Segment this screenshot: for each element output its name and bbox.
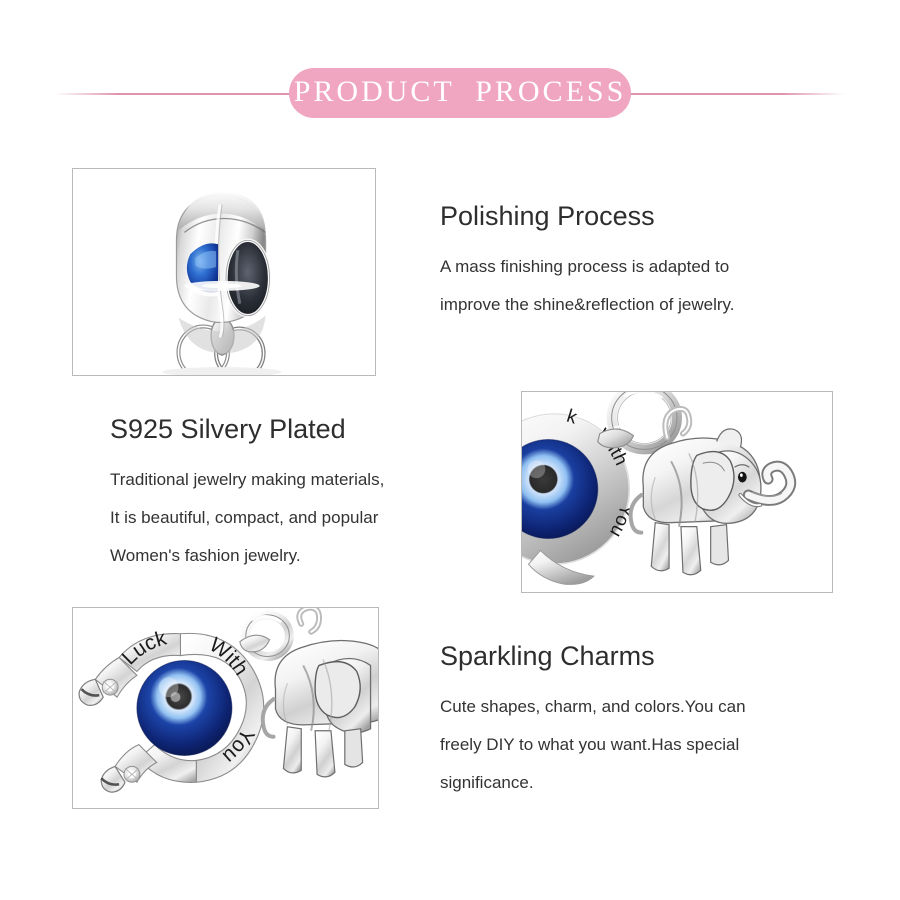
section-body-charms: Cute shapes, charm, and colors.You can f… xyxy=(440,688,860,802)
page-header-banner: PRODUCT PROCESS xyxy=(0,62,900,126)
horseshoe-evil-eye-charm-illustration: Luck With You xyxy=(73,608,378,808)
section-charms: Sparkling Charms Cute shapes, charm, and… xyxy=(440,640,860,802)
section-title-plated: S925 Silvery Plated xyxy=(110,413,510,447)
body-line: Traditional jewelry making materials, xyxy=(110,461,510,499)
section-title-charms: Sparkling Charms xyxy=(440,640,860,674)
product-photo-plated: Luck With You xyxy=(72,607,379,809)
page-title: PRODUCT PROCESS xyxy=(294,77,627,109)
body-line: freely DIY to what you want.Has special xyxy=(440,726,860,764)
body-line: significance. xyxy=(440,764,860,802)
product-photo-polishing xyxy=(72,168,376,376)
charm-bead-side-view-illustration xyxy=(73,169,375,375)
body-line: improve the shine&reflection of jewelry. xyxy=(440,286,860,324)
elephant-charm-closeup-illustration: k With You xyxy=(522,392,832,592)
bead-center-hole xyxy=(226,240,270,315)
body-line: A mass finishing process is adapted to xyxy=(440,248,860,286)
body-line: It is beautiful, compact, and popular xyxy=(110,499,510,537)
header-pill: PRODUCT PROCESS xyxy=(289,68,631,118)
body-line: Women's fashion jewelry. xyxy=(110,537,510,575)
section-body-polishing: A mass finishing process is adapted to i… xyxy=(440,248,860,324)
section-polishing: Polishing Process A mass finishing proce… xyxy=(440,200,860,324)
cz-stone-upper xyxy=(102,679,118,695)
specular-highlight xyxy=(184,281,259,291)
elephant-eye xyxy=(738,472,747,483)
body-line: Cute shapes, charm, and colors.You can xyxy=(440,688,860,726)
product-photo-charms: k With You xyxy=(521,391,833,593)
section-plated: S925 Silvery Plated Traditional jewelry … xyxy=(110,413,510,575)
evil-eye-stone xyxy=(137,660,232,755)
section-title-polishing: Polishing Process xyxy=(440,200,860,234)
cz-stone-lower xyxy=(124,766,140,782)
section-body-plated: Traditional jewelry making materials, It… xyxy=(110,461,510,575)
